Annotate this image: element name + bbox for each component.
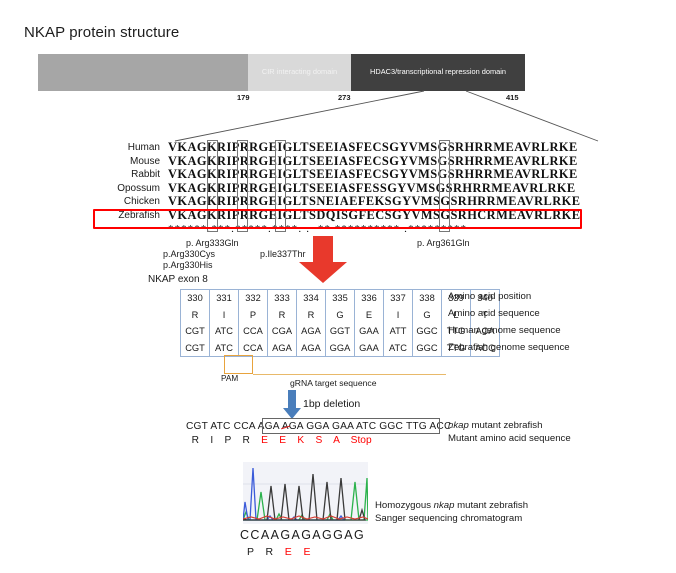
- codon-cell: I: [210, 307, 239, 324]
- variant-label-arg333gln: p. Arg333Gln: [186, 238, 239, 248]
- chrom-prefix: Homozygous: [375, 500, 434, 511]
- mutant-codon: CCA: [234, 421, 256, 432]
- chrom-aa: R: [266, 546, 274, 558]
- chromatogram-base-calls: CCAAGAGAGGAG: [240, 528, 365, 542]
- codon-cell: CGT: [181, 340, 210, 357]
- codon-cell: E: [355, 307, 384, 324]
- codon-cell: G: [413, 307, 442, 324]
- codon-cell: R: [181, 307, 210, 324]
- codon-cell: CCA: [239, 323, 268, 340]
- mutant-sequence-block: CGT ATC CCA AGA AGA GGA GAA ATC GGC TTG …: [186, 420, 452, 447]
- codon-cell: AGA: [268, 340, 297, 357]
- mutant-label-zebrafish: nkap mutant zebrafish: [448, 420, 542, 431]
- codon-cell: P: [239, 307, 268, 324]
- exon-label: NKAP exon 8: [148, 274, 208, 285]
- sequence-rabbit: VKAGKRIPRRGEIGLTSEEIASFECSGYVMSGSRHRRMEA…: [168, 168, 578, 182]
- codon-cell: 330: [181, 290, 210, 307]
- codon-cell: ATC: [210, 323, 239, 340]
- variant-label-arg330cys: p.Arg330Cys: [163, 249, 215, 259]
- codon-cell: ATC: [384, 340, 413, 357]
- alignment-row: Rabbit VKAGKRIPRRGEIGLTSEEIASFECSGYVMSGS…: [97, 168, 580, 182]
- mutant-aa: E: [279, 435, 286, 446]
- grna-underline: [253, 374, 446, 375]
- codon-cell: 334: [297, 290, 326, 307]
- deletion-label: 1bp deletion: [303, 398, 360, 410]
- mutant-aa: Stop: [351, 435, 372, 446]
- codon-cell: GGC: [413, 340, 442, 357]
- species-label-chicken: Chicken: [97, 195, 168, 209]
- chromatogram-label-line2: Sanger sequencing chromatogram: [375, 513, 522, 524]
- species-label-human: Human: [97, 141, 168, 155]
- alignment-row: Mouse VKAGKRIPRRGEIGLTSEEIASFECSGYVMSGSR…: [97, 155, 580, 169]
- mutant-aa: P: [225, 435, 232, 446]
- deleted-base: A: [282, 421, 289, 432]
- mutant-amino-acid-line: R I P R E E K S A Stop: [186, 434, 452, 447]
- grna-target-label: gRNA target sequence: [290, 378, 376, 388]
- codon-cell: CCA: [239, 340, 268, 357]
- codon-row-label-human-genome: Human genome sequence: [448, 325, 561, 336]
- codon-cell: GAA: [355, 323, 384, 340]
- codon-cell: GAA: [355, 340, 384, 357]
- chrom-suffix: mutant zebrafish: [454, 500, 528, 511]
- codon-cell: 336: [355, 290, 384, 307]
- mutant-aa: E: [261, 435, 268, 446]
- codon-row-label-zebrafish-genome: Zebrafish genome sequence: [448, 342, 570, 353]
- codon-cell: 338: [413, 290, 442, 307]
- chrom-aa: E: [285, 546, 292, 558]
- mutant-codon: CGT: [186, 421, 208, 432]
- codon-cell: ATC: [210, 340, 239, 357]
- chrom-aa: E: [303, 546, 310, 558]
- mutant-label-rest: mutant zebrafish: [469, 420, 543, 431]
- codon-cell: 332: [239, 290, 268, 307]
- sequence-chicken: VKAGKRIPRRGEIGLTSNEIAEFEKSGYVMSGSRHRRMEA…: [168, 195, 580, 209]
- chromatogram-label-line1: Homozygous nkap mutant zebrafish: [375, 500, 528, 511]
- chrom-gene-italic: nkap: [434, 500, 455, 511]
- codon-cell: R: [297, 307, 326, 324]
- mutant-aa: I: [210, 435, 213, 446]
- sanger-chromatogram: [243, 462, 368, 524]
- alignment-row: Human VKAGKRIPRRGEIGLTSEEIASFECSGYVMSGSR…: [97, 141, 580, 155]
- codon-cell: CGT: [181, 323, 210, 340]
- species-label-opossum: Opossum: [97, 182, 168, 196]
- alignment-row: Opossum VKAGKRIPRRGEIGLTSEEIASFESSGYVMSG…: [97, 182, 580, 196]
- blue-down-arrow-icon: [283, 390, 301, 420]
- codon-cell: AGA: [297, 340, 326, 357]
- zoom-connector-lines: [0, 85, 676, 145]
- figure-root: NKAP protein structure CIR interacting d…: [0, 0, 676, 573]
- alignment-row: Chicken VKAGKRIPRRGEIGLTSNEIAEFEKSGYVMSG…: [97, 195, 580, 209]
- codon-cell: 331: [210, 290, 239, 307]
- sequence-human: VKAGKRIPRRGEIGLTSEEIASFECSGYVMSGSRHRRMEA…: [168, 141, 578, 155]
- codon-cell: GGT: [326, 323, 355, 340]
- codon-cell: ATT: [384, 323, 413, 340]
- mutant-gene-italic: nkap: [448, 420, 469, 431]
- codon-row-label-aa-sequence: Amino acid sequence: [448, 308, 540, 319]
- mutant-label-aa-sequence: Mutant amino acid sequence: [448, 433, 571, 444]
- species-label-rabbit: Rabbit: [97, 168, 168, 182]
- mutant-aa: S: [316, 435, 323, 446]
- sequence-alignment: Human VKAGKRIPRRGEIGLTSEEIASFECSGYVMSGSR…: [97, 141, 580, 235]
- codon-cell: 333: [268, 290, 297, 307]
- codon-row-label-position: Amino acid position: [448, 291, 531, 302]
- chromatogram-amino-acids: P R E E: [247, 546, 310, 558]
- sequence-opossum: VKAGKRIPRRGEIGLTSEEIASFESSGYVMSGSRHRRMEA…: [168, 182, 576, 196]
- codon-cell: GGC: [413, 323, 442, 340]
- codon-cell: I: [384, 307, 413, 324]
- mutant-aa: A: [333, 435, 339, 446]
- codon-cell: 335: [326, 290, 355, 307]
- sequence-mouse: VKAGKRIPRRGEIGLTSEEIASFECSGYVMSGSRHRRMEA…: [168, 155, 578, 169]
- pam-highlight-box: [224, 355, 253, 374]
- codon-cell: CGA: [268, 323, 297, 340]
- page-title: NKAP protein structure: [24, 24, 179, 41]
- red-down-arrow-icon: [295, 236, 351, 284]
- mutant-aa: R: [242, 435, 249, 446]
- chromatogram-trace: [243, 462, 368, 524]
- variant-label-arg361gln: p. Arg361Gln: [417, 238, 470, 248]
- species-label-mouse: Mouse: [97, 155, 168, 169]
- codon-cell: GGA: [326, 340, 355, 357]
- codon-cell: R: [268, 307, 297, 324]
- mutant-aa: K: [297, 435, 304, 446]
- zebrafish-highlight-box: [93, 209, 582, 229]
- mutant-aa: R: [186, 435, 199, 446]
- pam-label: PAM: [221, 374, 238, 383]
- codon-cell: G: [326, 307, 355, 324]
- variant-label-arg330his: p.Arg330His: [163, 260, 213, 270]
- chrom-aa: P: [247, 546, 254, 558]
- codon-cell: 337: [384, 290, 413, 307]
- codon-cell: AGA: [297, 323, 326, 340]
- mutant-codon: ATC: [210, 421, 230, 432]
